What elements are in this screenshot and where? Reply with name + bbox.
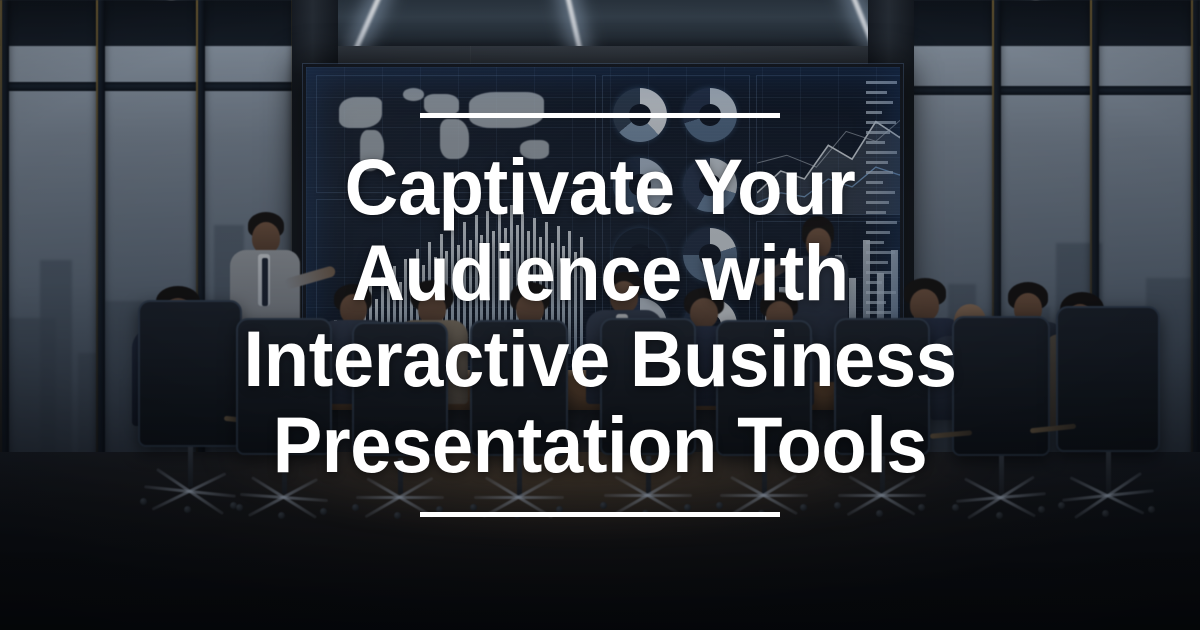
headline-line-1: Captivate Your — [102, 144, 1098, 230]
top-divider-rule — [420, 113, 780, 118]
bottom-divider-rule — [420, 512, 780, 517]
page-title: Captivate Your Audience with Interactive… — [102, 144, 1098, 488]
headline-overlay: Captivate Your Audience with Interactive… — [0, 0, 1200, 630]
headline-line-4: Presentation Tools — [102, 402, 1098, 488]
headline-line-2: Audience with — [102, 230, 1098, 316]
headline-line-3: Interactive Business — [102, 316, 1098, 402]
hero-banner: Captivate Your Audience with Interactive… — [0, 0, 1200, 630]
